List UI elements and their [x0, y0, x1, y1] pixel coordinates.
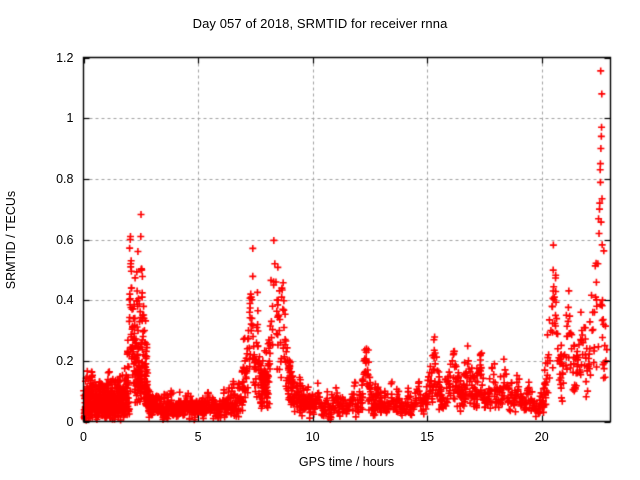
y-tick-label: 0.8: [30, 173, 74, 185]
x-tick-label: 20: [522, 431, 562, 443]
x-tick-label: 5: [178, 431, 218, 443]
y-tick-label: 0: [30, 416, 74, 428]
x-tick-label: 0: [64, 431, 104, 443]
plot-canvas: [0, 0, 640, 480]
scatter-plot-figure: Day 057 of 2018, SRMTID for receiver rnn…: [0, 0, 640, 480]
y-tick-label: 0.6: [30, 234, 74, 246]
y-tick-label: 0.2: [30, 355, 74, 367]
x-tick-label: 10: [293, 431, 333, 443]
y-tick-label: 0.4: [30, 294, 74, 306]
x-tick-label: 15: [407, 431, 447, 443]
y-tick-label: 1.2: [30, 52, 74, 64]
y-tick-label: 1: [30, 112, 74, 124]
